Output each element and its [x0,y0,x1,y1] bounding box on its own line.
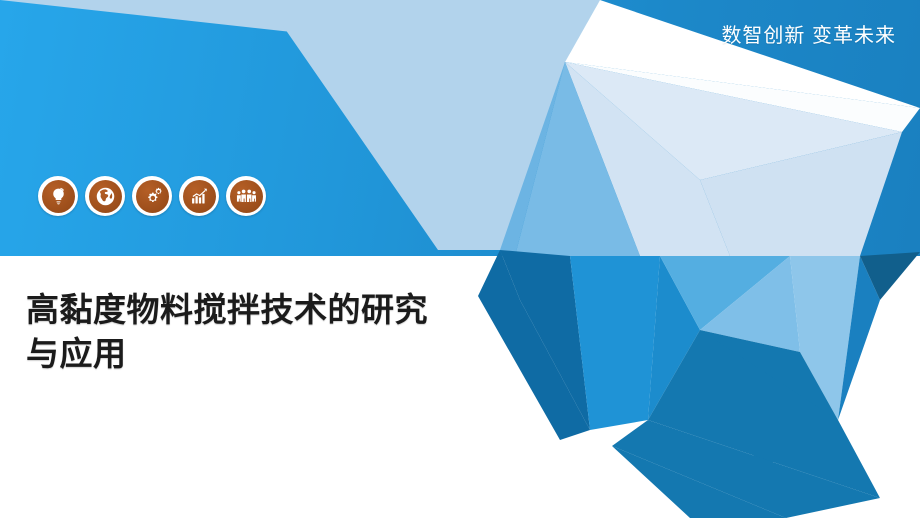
low-poly-decoration [0,0,920,518]
icon-badge-gears[interactable] [132,176,172,216]
title-line-2: 与应用 [26,332,586,376]
lightbulb-refresh-icon [42,180,75,213]
icon-badge-chart[interactable] [179,176,219,216]
icon-badge-globe[interactable] [85,176,125,216]
icon-row [38,176,266,216]
gears-icon [136,180,169,213]
title-slide: 数智创新 变革未来 [0,0,920,518]
page-title: 高黏度物料搅拌技术的研究 与应用 [26,288,586,375]
bar-chart-icon [183,180,216,213]
slide-tagline: 数智创新 变革未来 [721,26,896,46]
icon-badge-people[interactable] [226,176,266,216]
people-group-icon [230,180,263,213]
globe-icon [89,180,122,213]
title-line-1: 高黏度物料搅拌技术的研究 [26,288,586,332]
icon-badge-innovation[interactable] [38,176,78,216]
